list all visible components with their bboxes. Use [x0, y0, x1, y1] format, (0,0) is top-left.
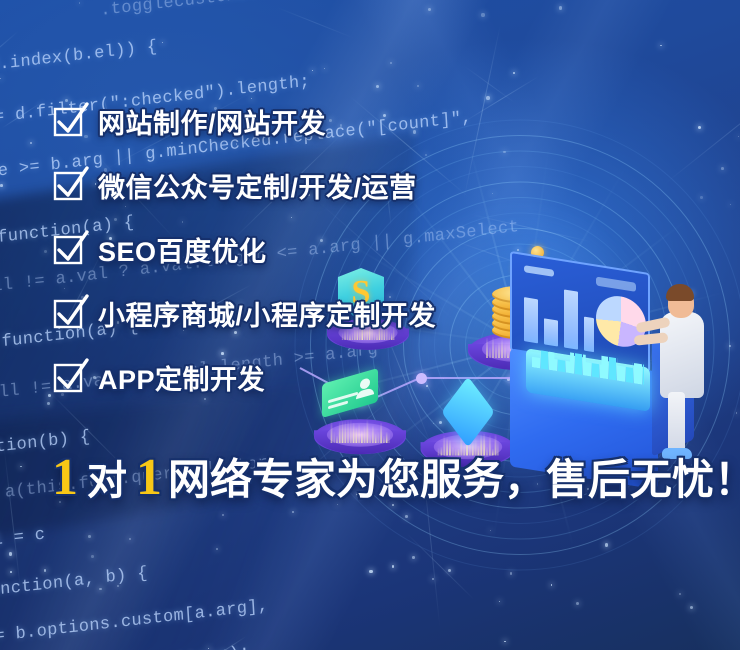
feature-label: 小程序商城/小程序定制开发: [98, 294, 436, 333]
feature-item-miniapp: 小程序商城/小程序定制开发: [52, 292, 692, 334]
feature-item-seo: SEO百度优化: [52, 228, 692, 270]
checkbox-checked-icon: [52, 106, 82, 136]
feature-label: APP定制开发: [98, 358, 265, 397]
service-feature-list: 网站制作/网站开发微信公众号定制/开发/运营SEO百度优化小程序商城/小程序定制…: [52, 100, 692, 398]
tagline-number-second: 1: [136, 452, 162, 504]
feature-label: SEO百度优化: [98, 230, 267, 269]
feature-label: 网站制作/网站开发: [98, 102, 326, 141]
feature-item-app: APP定制开发: [52, 356, 692, 398]
checkbox-checked-icon: [52, 234, 82, 264]
feature-item-website: 网站制作/网站开发: [52, 100, 692, 142]
promo-banner: .togglecustomattr("input[type=checkbox]"…: [0, 0, 740, 650]
checkbox-checked-icon: [52, 170, 82, 200]
feature-label: 微信公众号定制/开发/运营: [98, 166, 417, 205]
tagline: 1 对 1 网络专家为您服务，售后无忧！: [52, 452, 740, 504]
checkbox-checked-icon: [52, 298, 82, 328]
checkbox-checked-icon: [52, 362, 82, 392]
tagline-main-text: 网络专家为您服务，售后无忧！: [168, 459, 740, 501]
banner-content: 网站制作/网站开发微信公众号定制/开发/运营SEO百度优化小程序商城/小程序定制…: [0, 0, 740, 650]
tagline-number-first: 1: [52, 452, 78, 504]
tagline-word-middle: 对: [78, 461, 136, 501]
feature-item-wechat: 微信公众号定制/开发/运营: [52, 164, 692, 206]
